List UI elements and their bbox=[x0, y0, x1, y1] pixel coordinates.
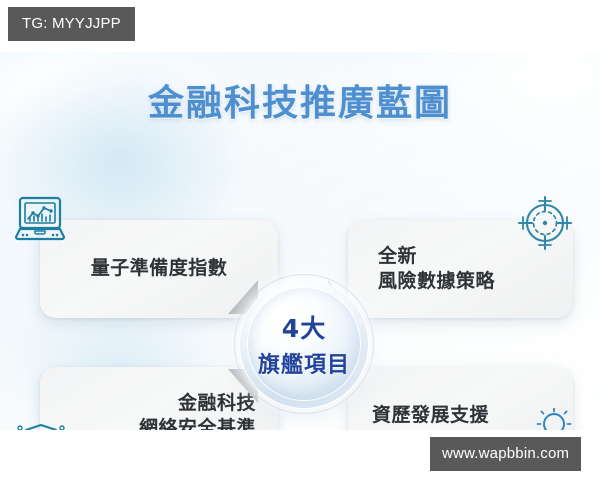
screenshot-root: TG: MYYJJPP 金融科技推廣藍圖 量子準備度指數 全新 風險數據策略 金… bbox=[0, 0, 600, 480]
hub-line-2: 旗艦項目 bbox=[258, 347, 350, 379]
lightbulb-people-icon bbox=[524, 408, 584, 430]
site-watermark-badge: www.wapbbin.com bbox=[430, 437, 581, 471]
card-bottom-right-label: 資歷發展支援 bbox=[372, 403, 489, 428]
page-title: 金融科技推廣藍圖 bbox=[0, 74, 600, 126]
shield-lock-circuit-icon bbox=[12, 420, 70, 430]
center-hub-sphere: 4大 旗艦項目 bbox=[240, 280, 368, 408]
laptop-analytics-icon bbox=[12, 193, 68, 250]
infographic-canvas: 金融科技推廣藍圖 量子準備度指數 全新 風險數據策略 金融科技 網絡安全基準 資… bbox=[0, 52, 600, 430]
hub-line-1: 4大 bbox=[282, 309, 326, 345]
card-top-right-label: 全新 風險數據策略 bbox=[378, 244, 495, 295]
telegram-watermark-badge: TG: MYYJJPP bbox=[8, 7, 135, 41]
card-top-left-label: 量子準備度指數 bbox=[91, 256, 228, 281]
target-crosshair-icon bbox=[516, 194, 574, 257]
